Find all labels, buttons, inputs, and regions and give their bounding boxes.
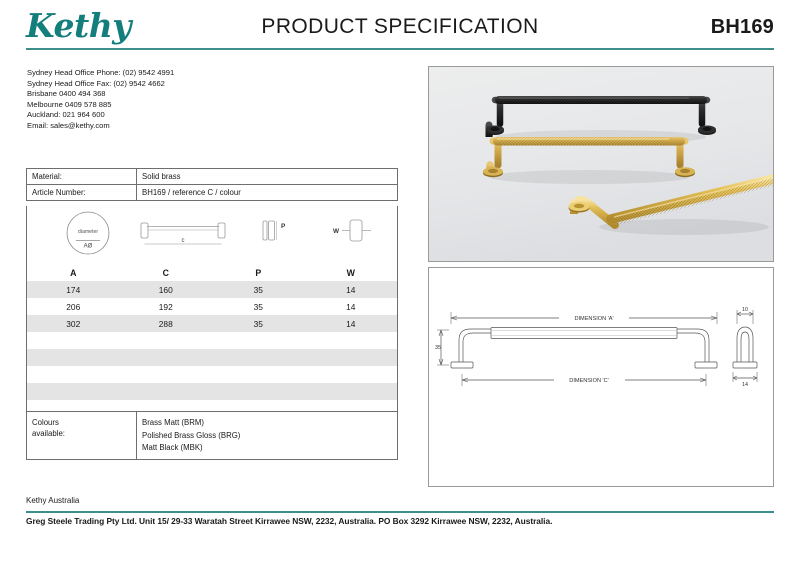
cell-p: 35 — [212, 285, 305, 295]
width-icon: W — [323, 206, 395, 264]
page-header: Kethy PRODUCT SPECIFICATION BH169 — [0, 0, 800, 58]
colour-option: Matt Black (MBK) — [142, 442, 393, 455]
article-code-heading: BH169 — [711, 16, 774, 39]
colour-option: Brass Matt (BRM) — [142, 417, 393, 430]
table-row: 206 192 35 14 — [27, 298, 397, 315]
table-row-blank — [27, 383, 397, 400]
contact-details: Sydney Head Office Phone: (02) 9542 4991… — [27, 68, 174, 132]
drawing-label-side-top: 10 — [742, 307, 748, 313]
table-row: 174 160 35 14 — [27, 281, 397, 298]
colour-option: Polished Brass Gloss (BRG) — [142, 430, 393, 443]
table-row: 302 288 35 14 — [27, 315, 397, 332]
footer-divider — [26, 511, 774, 513]
svg-text:diameter: diameter — [78, 229, 98, 235]
cell-a: 206 — [27, 302, 120, 312]
table-row-blank — [27, 366, 397, 383]
table-row-material: Material: Solid brass — [27, 169, 397, 185]
cell-c: 288 — [120, 319, 213, 329]
material-value: Solid brass — [137, 169, 397, 184]
table-row-article: Article Number: BH169 / reference C / co… — [27, 185, 397, 201]
column-header-p: P — [212, 268, 305, 278]
drawing-label-dimension-c: DIMENSION 'C' — [569, 378, 608, 384]
svg-text:c: c — [182, 238, 185, 244]
svg-text:P: P — [281, 223, 286, 230]
cell-a: 302 — [27, 319, 120, 329]
technical-drawing: DIMENSION 'A' DIMENSION 'C' 35 10 14 — [428, 267, 774, 487]
colours-list: Brass Matt (BRM) Polished Brass Gloss (B… — [137, 412, 397, 459]
colours-label: Colours available: — [27, 412, 137, 459]
measurement-table: A C P W 174 160 35 14 206 192 35 14 302 … — [26, 264, 398, 417]
cell-w: 14 — [305, 302, 398, 312]
contact-line: Sydney Head Office Fax: (02) 9542 4662 — [27, 79, 174, 90]
cell-c: 192 — [120, 302, 213, 312]
projection-icon: P — [247, 206, 309, 264]
cell-p: 35 — [212, 302, 305, 312]
contact-line: Melbourne 0409 578 885 — [27, 100, 174, 111]
table-header-row: A C P W — [27, 264, 397, 281]
column-header-c: C — [120, 268, 213, 278]
colours-available-block: Colours available: Brass Matt (BRM) Poli… — [26, 411, 398, 460]
centres-icon: c — [135, 206, 231, 264]
cell-p: 35 — [212, 319, 305, 329]
footer-company-name: Kethy Australia — [26, 496, 79, 505]
cell-a: 174 — [27, 285, 120, 295]
specification-table: Material: Solid brass Article Number: BH… — [26, 168, 398, 201]
footer-address: Greg Steele Trading Pty Ltd. Unit 15/ 29… — [26, 516, 552, 526]
colours-label-line1: Colours — [32, 418, 132, 429]
contact-line: Auckland: 021 964 600 — [27, 110, 174, 121]
article-number-value: BH169 / reference C / colour — [137, 185, 397, 200]
contact-line: Sydney Head Office Phone: (02) 9542 4991 — [27, 68, 174, 79]
contact-line: Brisbane 0400 494 368 — [27, 89, 174, 100]
cell-c: 160 — [120, 285, 213, 295]
product-photo — [428, 66, 774, 262]
svg-text:W: W — [333, 228, 340, 235]
page-title: PRODUCT SPECIFICATION — [0, 15, 800, 39]
cell-w: 14 — [305, 319, 398, 329]
material-label: Material: — [27, 169, 137, 184]
drawing-label-side-bottom: 14 — [742, 382, 748, 388]
table-row-blank — [27, 332, 397, 349]
column-header-a: A — [27, 268, 120, 278]
header-divider — [26, 48, 774, 50]
cell-w: 14 — [305, 285, 398, 295]
drawing-label-dimension-a: DIMENSION 'A' — [574, 316, 613, 322]
contact-line: Email: sales@kethy.com — [27, 121, 174, 132]
colours-label-line2: available: — [32, 429, 132, 440]
article-number-label: Article Number: — [27, 185, 137, 200]
column-header-w: W — [305, 268, 398, 278]
diameter-icon: diameter AØ — [55, 206, 121, 264]
svg-text:AØ: AØ — [84, 244, 93, 250]
drawing-label-height: 35 — [435, 345, 441, 351]
table-row-blank — [27, 349, 397, 366]
dimension-icon-strip: diameter AØ c P W — [26, 206, 398, 264]
